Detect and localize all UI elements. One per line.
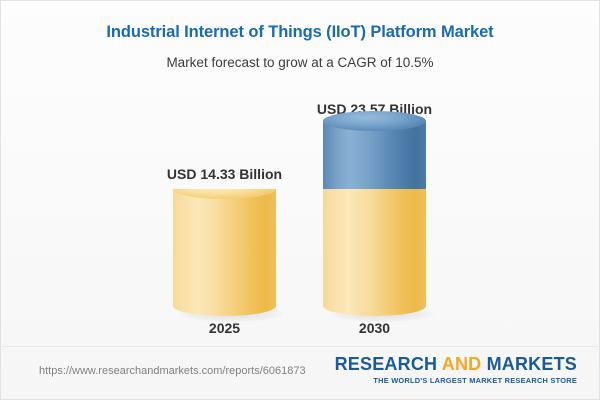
category-label-2030: 2030 <box>323 320 426 336</box>
bar-segment-base-2030 <box>323 189 426 316</box>
bar-segment-body <box>323 121 426 189</box>
bar-segment-base-2025 <box>173 189 276 316</box>
logo-tagline: THE WORLD'S LARGEST MARKET RESEARCH STOR… <box>335 376 577 385</box>
bar-cylinder-2030[interactable] <box>323 121 426 316</box>
footer: https://www.researchandmarkets.com/repor… <box>1 347 599 400</box>
logo-wordmark: RESEARCH AND MARKETS <box>335 355 577 374</box>
chart-plot-area: USD 14.33 Billion 2025 USD 23.57 Billion <box>1 86 600 341</box>
chart-subtitle: Market forecast to grow at a CAGR of 10.… <box>1 55 599 70</box>
bar-segment-growth-2030 <box>323 121 426 189</box>
bar-segment-top-cap <box>323 111 426 131</box>
logo-word-and: AND <box>442 354 482 374</box>
bar-cylinder-2025[interactable] <box>173 189 276 316</box>
chart-card: Industrial Internet of Things (IIoT) Pla… <box>0 0 600 400</box>
bar-value-label-2025: USD 14.33 Billion <box>133 166 316 182</box>
bar-segment-body <box>323 189 426 316</box>
report-url[interactable]: https://www.researchandmarkets.com/repor… <box>39 365 306 377</box>
logo-word-research: RESEARCH <box>335 354 438 374</box>
logo-word-markets: MARKETS <box>487 354 577 374</box>
research-and-markets-logo: RESEARCH AND MARKETS THE WORLD'S LARGEST… <box>335 355 577 385</box>
category-label-2025: 2025 <box>173 320 276 336</box>
bar-segment-body <box>173 189 276 316</box>
chart-title: Industrial Internet of Things (IIoT) Pla… <box>1 23 599 42</box>
